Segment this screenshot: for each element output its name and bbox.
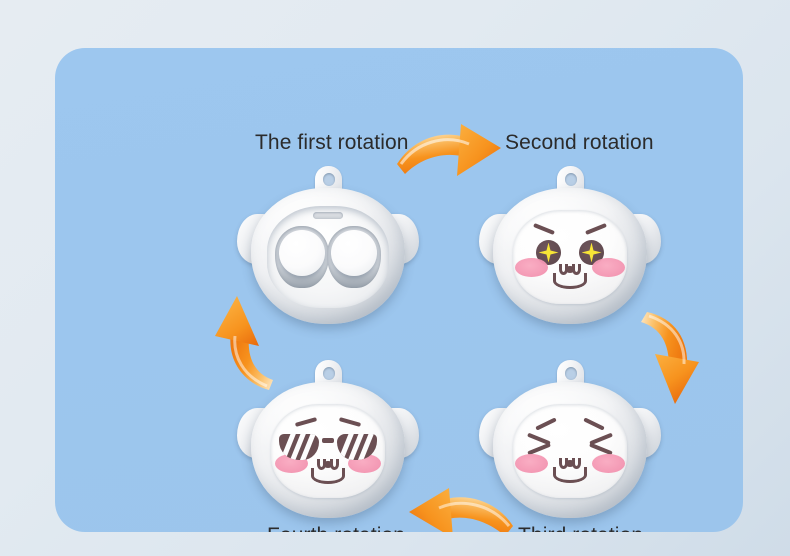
- eyebrow-left-icon: [533, 223, 555, 235]
- mouth-icon: [553, 273, 587, 289]
- blush-left: [515, 454, 548, 473]
- label-second-rotation: Second rotation: [505, 132, 654, 153]
- earbud-case-sparkle-face[interactable]: [485, 166, 655, 326]
- mouth-icon: [311, 468, 345, 484]
- earbud-case-squint-face[interactable]: [485, 360, 655, 520]
- eyebrow-right-icon: [583, 417, 605, 430]
- earbud-case-sunglasses-face[interactable]: [243, 360, 413, 520]
- eyebrow-right-icon: [585, 223, 607, 235]
- blush-right: [592, 454, 625, 473]
- case-body: [251, 188, 405, 324]
- mouth-icon: [553, 467, 587, 483]
- eyebrow-left-icon: [535, 417, 557, 430]
- sunglasses-lens-left-icon: [279, 434, 319, 460]
- case-body: [251, 382, 405, 518]
- earbud-right: [331, 230, 377, 276]
- label-third-rotation: Third rotation: [518, 525, 643, 532]
- eyebrow-right-icon: [339, 417, 361, 427]
- earbud-case-open[interactable]: [243, 166, 413, 326]
- face-display: [513, 210, 627, 304]
- face-display: [513, 404, 627, 498]
- case-body: [493, 382, 647, 518]
- sunglasses-bridge-icon: [322, 438, 334, 443]
- earbud-left: [279, 230, 325, 276]
- case-interior: [267, 206, 389, 308]
- eyebrow-left-icon: [295, 417, 317, 427]
- product-illustration-panel: The first rotation Second rotation Third…: [55, 48, 743, 532]
- blush-right: [592, 258, 625, 277]
- earbud-cavity-right: [327, 226, 381, 288]
- face-display: [271, 404, 385, 498]
- screenshot-root: The first rotation Second rotation Third…: [0, 0, 790, 556]
- status-indicator-slot: [313, 212, 343, 219]
- label-fourth-rotation: Fourth rotation: [267, 525, 405, 532]
- blush-left: [515, 258, 548, 277]
- case-body: [493, 188, 647, 324]
- label-first-rotation: The first rotation: [255, 132, 409, 153]
- earbud-cavity-left: [275, 226, 329, 288]
